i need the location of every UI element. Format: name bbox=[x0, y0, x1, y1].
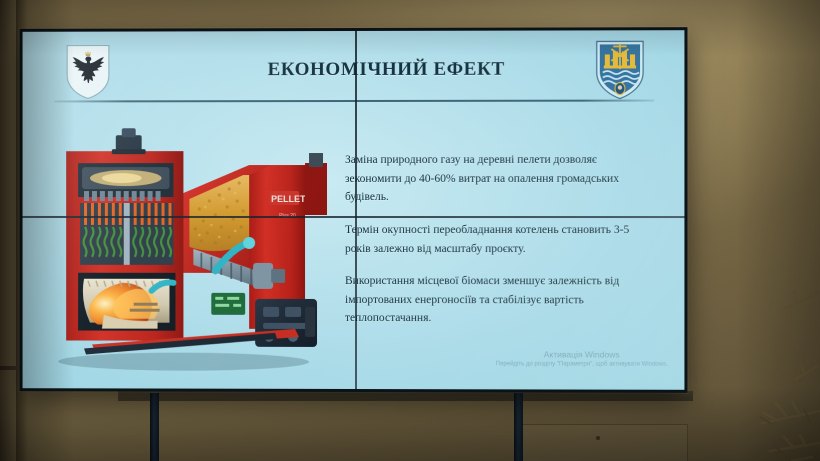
decorative-branch bbox=[700, 271, 820, 461]
slide-body-text: Заміна природного газу на деревні пелети… bbox=[345, 151, 656, 329]
wall-panel-screw bbox=[596, 436, 600, 440]
room-scene: ЕКОНОМІЧНИЙ ЕФЕКТ bbox=[0, 0, 820, 461]
slide-title: ЕКОНОМІЧНИЙ ЕФЕКТ bbox=[221, 59, 551, 82]
city-coat-of-arms-icon bbox=[594, 38, 646, 100]
watermark-subtitle: Перейдіть до розділу "Параметри", щоб ак… bbox=[491, 361, 672, 369]
videowall-stand-leg-left bbox=[150, 393, 159, 461]
pellet-boiler-illustration: PELLET Plus 20 bbox=[44, 123, 339, 373]
windows-activation-watermark: Активація Windows Перейдіть до розділу "… bbox=[491, 349, 672, 369]
video-wall-screen[interactable]: ЕКОНОМІЧНИЙ ЕФЕКТ bbox=[23, 30, 685, 390]
slide-paragraph-3: Використання місцевої біомаси зменшує за… bbox=[345, 272, 656, 328]
videowall-stand-leg-right bbox=[514, 393, 523, 461]
svg-text:PELLET: PELLET bbox=[271, 194, 306, 204]
presentation-slide: ЕКОНОМІЧНИЙ ЕФЕКТ bbox=[23, 30, 685, 390]
wall-service-panel bbox=[520, 424, 688, 461]
videowall-bezel-seam-vertical bbox=[355, 31, 357, 389]
ivano-frankivsk-coat-of-arms-icon bbox=[64, 44, 112, 100]
slide-paragraph-1: Заміна природного газу на деревні пелети… bbox=[345, 151, 656, 207]
watermark-title: Активація Windows bbox=[491, 349, 672, 359]
slide-paragraph-2: Термін окупності переобладнання котелень… bbox=[345, 221, 656, 258]
videowall-bezel-seam-horizontal bbox=[23, 216, 685, 218]
video-wall[interactable]: ЕКОНОМІЧНИЙ ЕФЕКТ bbox=[20, 27, 688, 393]
